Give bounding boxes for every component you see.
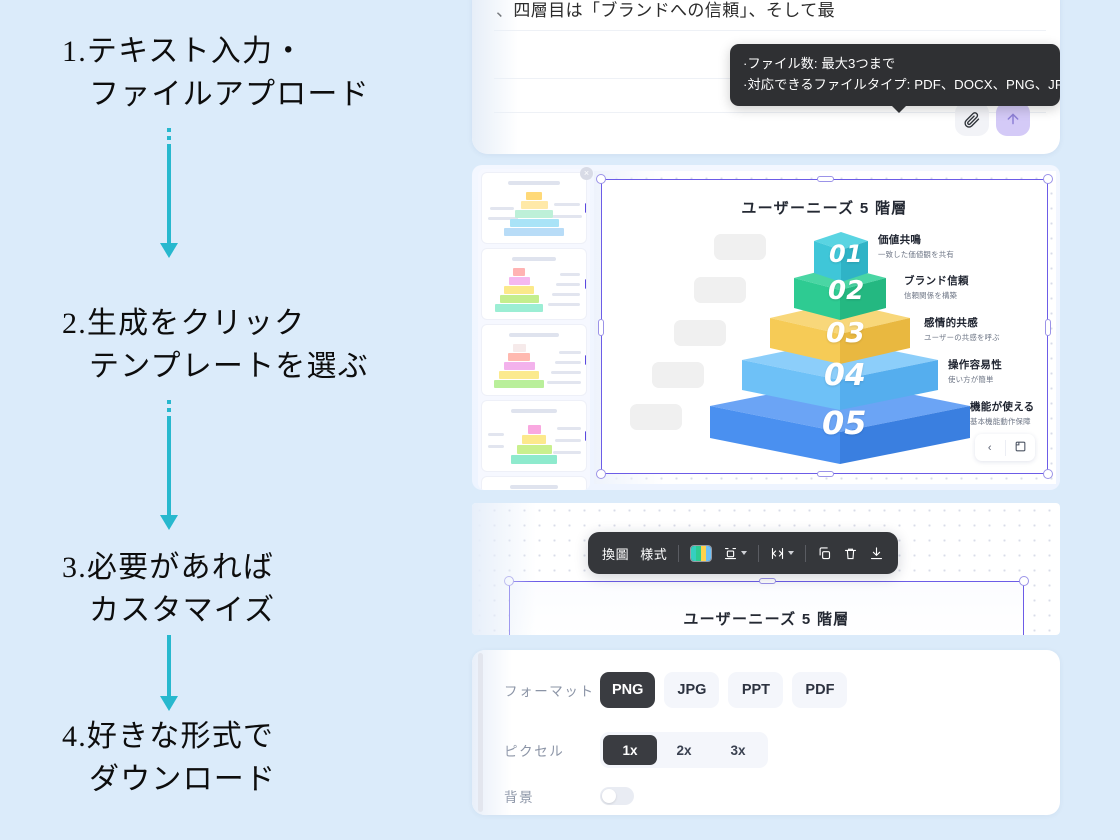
expand-icon <box>1014 440 1027 453</box>
pixel-option-3x[interactable]: 3x <box>711 735 765 765</box>
step-1-line1: 1.テキスト入力・ <box>62 30 370 73</box>
level-03-number: 03 <box>826 316 865 349</box>
title-element-selected[interactable]: ユーザーニーズ 5 階層 <box>509 581 1024 635</box>
thumbnail-caret-icon <box>585 203 586 213</box>
attach-file-button[interactable] <box>955 102 989 136</box>
step-2-line1: 2.生成をクリック <box>62 302 369 345</box>
replace-image-button[interactable]: 換圖 <box>602 544 629 563</box>
slide-navigation[interactable]: ‹ <box>975 434 1035 461</box>
caption-01-sub: 一致した価値観を共有 <box>878 249 954 260</box>
step-3: 3.必要があれば カスタマイズ <box>62 546 275 632</box>
flow-arrow-2 <box>160 400 178 530</box>
resize-handle-top-left[interactable] <box>596 174 606 184</box>
align-button[interactable] <box>723 546 747 561</box>
export-options-panel: フォーマット PNG JPG PPT PDF ピクセル 1x 2x 3x 背景 <box>472 650 1060 815</box>
tooltip-line-2: ·対応できるファイルタイプ: PDF、DOCX、PNG、JPG <box>743 74 1047 95</box>
slide-expand-button[interactable] <box>1006 440 1036 456</box>
spacing-icon <box>770 546 785 561</box>
placeholder-box <box>674 320 726 346</box>
pixel-row: ピクセル 1x 2x 3x <box>504 732 768 768</box>
template-thumbnail-list[interactable] <box>478 169 590 490</box>
chat-composer-panel: 、四層目は「ブランドへの信頼」、そして最 ·ファイル数: 最大3つまで <box>472 0 1060 154</box>
step-3-line2: カスタマイズ <box>62 589 275 632</box>
caption-02-sub: 信頼関係を構築 <box>904 290 969 301</box>
chat-message-text: 、四層目は「ブランドへの信頼」、そして最 <box>496 0 1036 21</box>
step-4: 4.好きな形式で ダウンロード <box>62 715 276 801</box>
composer-actions <box>955 102 1030 136</box>
color-swatch-button[interactable] <box>690 545 712 562</box>
resize-handle-top-right[interactable] <box>1019 576 1029 586</box>
caption-04-title: 操作容易性 <box>948 357 1002 372</box>
step-4-line2: ダウンロード <box>62 758 276 801</box>
send-button[interactable] <box>996 102 1030 136</box>
spacing-button[interactable] <box>770 546 794 561</box>
level-02-number: 02 <box>828 276 864 306</box>
divider <box>758 545 759 562</box>
pixel-options[interactable]: 1x 2x 3x <box>600 732 768 768</box>
flow-arrow-1 <box>160 128 178 258</box>
flow-arrow-3 <box>160 635 178 711</box>
resize-handle-bottom-left[interactable] <box>596 469 606 479</box>
thumbnail-caret-icon <box>585 431 586 441</box>
caption-05: 機能が使える 基本機能動作保障 <box>970 399 1035 427</box>
download-icon <box>869 546 884 561</box>
background-label: 背景 <box>504 786 600 806</box>
background-toggle[interactable] <box>600 787 634 805</box>
paperclip-icon <box>964 111 981 128</box>
template-thumbnail[interactable] <box>482 173 586 243</box>
element-toolbar-panel: 換圖 様式 <box>472 503 1060 635</box>
align-icon <box>723 546 738 561</box>
template-thumbnail[interactable] <box>482 401 586 471</box>
chevron-down-icon <box>741 551 747 555</box>
slide-editor-panel: × ユーザーニーズ 5 階層 <box>472 165 1060 490</box>
level-01-number: 01 <box>829 240 862 268</box>
template-thumbnail[interactable] <box>482 325 586 395</box>
resize-handle-bottom-right[interactable] <box>1043 469 1053 479</box>
steps-column: 1.テキスト入力・ ファイルアプロード 2.生成をクリック テンプレートを選ぶ … <box>0 0 460 840</box>
pyramid-diagram: 05 04 <box>602 222 1047 467</box>
placeholder-box <box>694 277 746 303</box>
download-button[interactable] <box>869 546 884 561</box>
level-04-number: 04 <box>824 358 866 393</box>
pixel-option-1x[interactable]: 1x <box>603 735 657 765</box>
resize-handle-top-right[interactable] <box>1043 174 1053 184</box>
format-option-ppt[interactable]: PPT <box>728 672 783 708</box>
caption-01: 価値共鳴 一致した価値観を共有 <box>878 232 954 260</box>
pixel-option-2x[interactable]: 2x <box>657 735 711 765</box>
selection-frame[interactable]: ユーザーニーズ 5 階層 <box>601 179 1048 474</box>
caption-04-sub: 使い方が簡単 <box>948 374 1002 385</box>
divider <box>805 545 806 562</box>
style-button[interactable]: 様式 <box>640 544 667 563</box>
close-icon[interactable]: × <box>580 167 593 180</box>
slide-prev-button[interactable]: ‹ <box>975 442 1005 454</box>
placeholder-box <box>652 362 704 388</box>
format-option-pdf[interactable]: PDF <box>792 672 847 708</box>
step-1: 1.テキスト入力・ ファイルアプロード <box>62 30 370 116</box>
format-option-png[interactable]: PNG <box>600 672 655 708</box>
caption-03-sub: ユーザーの共感を呼ぶ <box>924 332 1000 343</box>
divider <box>678 545 679 562</box>
slide-canvas[interactable]: ユーザーニーズ 5 階層 <box>594 171 1056 484</box>
chevron-down-icon <box>788 551 794 555</box>
step-2-line2: テンプレートを選ぶ <box>62 345 369 388</box>
level-05-number: 05 <box>822 404 867 442</box>
file-upload-tooltip: ·ファイル数: 最大3つまで ·対応できるファイルタイプ: PDF、DOCX、P… <box>730 44 1060 106</box>
caption-01-title: 価値共鳴 <box>878 232 954 247</box>
copy-icon <box>817 546 832 561</box>
step-2: 2.生成をクリック テンプレートを選ぶ <box>62 302 369 388</box>
tooltip-line-1: ·ファイル数: 最大3つまで <box>743 53 1047 74</box>
title-element-text: ユーザーニーズ 5 階層 <box>510 608 1023 629</box>
divider <box>494 30 1046 31</box>
caption-02-title: ブランド信頼 <box>904 273 969 288</box>
caption-03-title: 感情的共感 <box>924 315 1000 330</box>
app-panels: 、四層目は「ブランドへの信頼」、そして最 ·ファイル数: 最大3つまで <box>460 0 1120 840</box>
placeholder-box <box>630 404 682 430</box>
format-row: フォーマット PNG JPG PPT PDF <box>504 672 856 708</box>
delete-button[interactable] <box>843 546 858 561</box>
template-thumbnail[interactable] <box>482 249 586 319</box>
element-toolbar[interactable]: 換圖 様式 <box>588 532 898 574</box>
trash-icon <box>843 546 858 561</box>
format-label: フォーマット <box>504 680 600 700</box>
panel-fade-overlay <box>472 503 536 635</box>
duplicate-button[interactable] <box>817 546 832 561</box>
caption-05-title: 機能が使える <box>970 399 1035 414</box>
thumbnail-caret-icon <box>585 279 586 289</box>
resize-handle-bottom[interactable] <box>817 471 834 477</box>
arrow-up-icon <box>1005 111 1021 127</box>
resize-handle-top[interactable] <box>759 578 776 584</box>
step-1-line2: ファイルアプロード <box>62 73 370 116</box>
placeholder-box <box>714 234 766 260</box>
background-row: 背景 <box>504 786 634 806</box>
caption-04: 操作容易性 使い方が簡単 <box>948 357 1002 385</box>
slide-title: ユーザーニーズ 5 階層 <box>602 197 1047 218</box>
step-4-line1: 4.好きな形式で <box>62 715 276 758</box>
screenshot-root: 1.テキスト入力・ ファイルアプロード 2.生成をクリック テンプレートを選ぶ … <box>0 0 1120 840</box>
caption-03: 感情的共感 ユーザーの共感を呼ぶ <box>924 315 1000 343</box>
format-option-jpg[interactable]: JPG <box>664 672 719 708</box>
resize-handle-top[interactable] <box>817 176 834 182</box>
caption-05-sub: 基本機能動作保障 <box>970 416 1035 427</box>
caption-02: ブランド信頼 信頼関係を構築 <box>904 273 969 301</box>
template-thumbnail[interactable] <box>482 477 586 490</box>
pixel-label: ピクセル <box>504 740 600 760</box>
step-3-line1: 3.必要があれば <box>62 546 275 589</box>
thumbnail-caret-icon <box>585 355 586 365</box>
